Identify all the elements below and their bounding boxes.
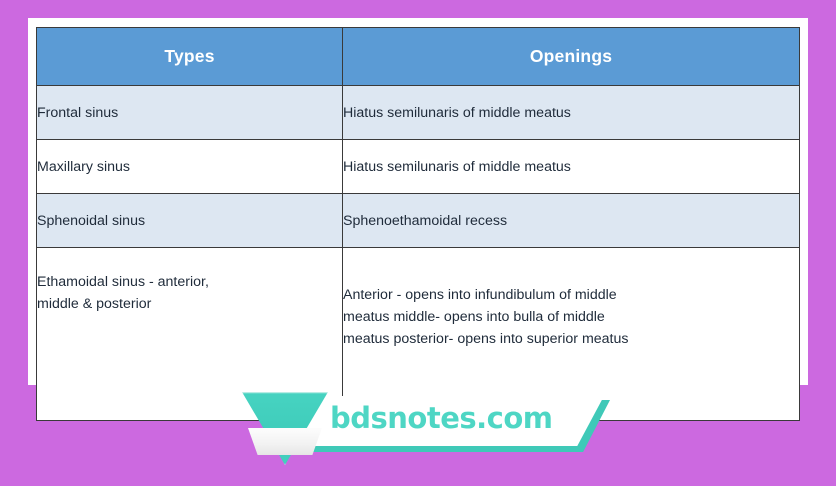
column-header-openings: Openings xyxy=(343,28,800,86)
table-row: Maxillary sinus Hiatus semilunaris of mi… xyxy=(37,140,800,194)
cell-types: Maxillary sinus xyxy=(37,140,343,194)
sinus-openings-table: Types Openings Frontal sinus Hiatus semi… xyxy=(36,27,800,421)
funnel-band xyxy=(248,428,322,455)
cell-types-line: middle & posterior xyxy=(37,293,342,315)
table-row: Sphenoidal sinus Sphenoethamoidal recess xyxy=(37,194,800,248)
column-header-types: Types xyxy=(37,28,343,86)
cell-openings-line: Anterior - opens into infundibulum of mi… xyxy=(343,284,799,306)
table-header: Types Openings xyxy=(37,28,800,86)
table-row: Frontal sinus Hiatus semilunaris of midd… xyxy=(37,86,800,140)
bdsnotes-watermark: bdsnotes.com xyxy=(238,392,610,466)
cell-openings-line: meatus middle- opens into bulla of middl… xyxy=(343,306,799,328)
sinus-openings-table-container: Types Openings Frontal sinus Hiatus semi… xyxy=(36,27,799,383)
cell-types: Sphenoidal sinus xyxy=(37,194,343,248)
cell-types-line: Ethamoidal sinus - anterior, xyxy=(37,271,342,293)
page-background: Types Openings Frontal sinus Hiatus semi… xyxy=(0,0,836,486)
cell-openings-line: meatus posterior- opens into superior me… xyxy=(343,328,799,350)
table-body: Frontal sinus Hiatus semilunaris of midd… xyxy=(37,86,800,421)
funnel-icon xyxy=(238,392,332,466)
cell-openings: Hiatus semilunaris of middle meatus xyxy=(343,140,800,194)
cell-types: Frontal sinus xyxy=(37,86,343,140)
cell-openings: Sphenoethamoidal recess xyxy=(343,194,800,248)
watermark-text: bdsnotes.com xyxy=(330,401,553,435)
cell-openings: Hiatus semilunaris of middle meatus xyxy=(343,86,800,140)
table-header-row: Types Openings xyxy=(37,28,800,86)
